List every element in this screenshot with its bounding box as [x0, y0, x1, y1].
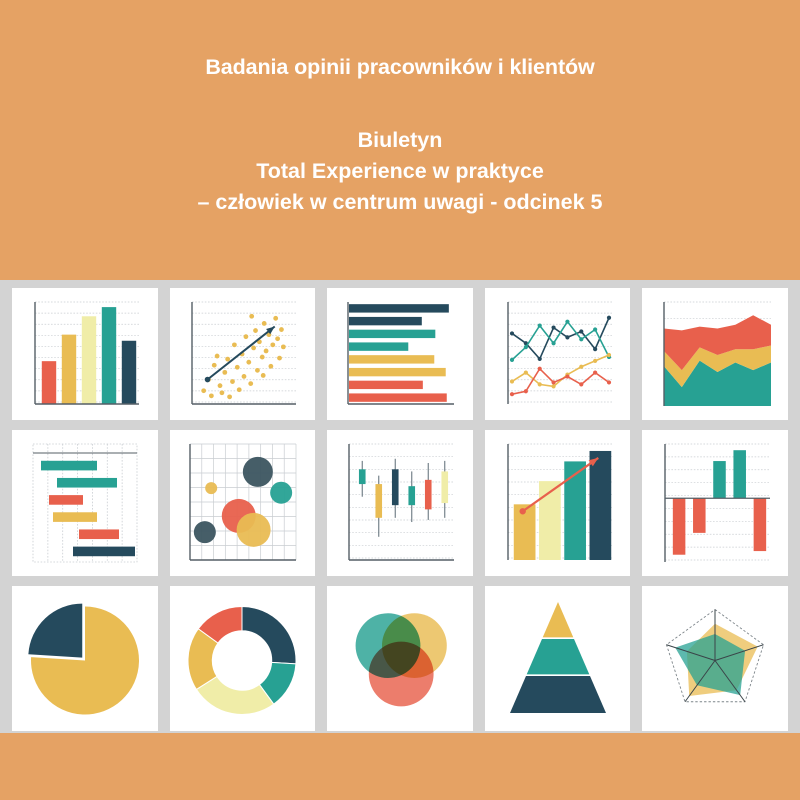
venn-diagram-chart — [340, 594, 460, 723]
candlestick-chart — [340, 438, 460, 568]
growth-bar-chart — [498, 438, 618, 568]
multi-line-chart — [498, 296, 618, 412]
chart-card-stacked-area-chart[interactable] — [642, 288, 788, 420]
chart-card-scatter-plot-chart[interactable] — [170, 288, 316, 420]
chart-card-gantt-chart[interactable] — [12, 430, 158, 576]
radar-chart — [655, 594, 775, 723]
poster-root: Badania opinii pracowników i klientów Bi… — [0, 0, 800, 800]
chart-card-venn-diagram-chart[interactable] — [327, 586, 473, 731]
scatter-plot-chart — [182, 296, 302, 412]
horizontal-bar-chart — [340, 296, 460, 412]
chart-card-horizontal-bar-chart[interactable] — [327, 288, 473, 420]
stacked-area-chart — [655, 296, 775, 412]
gantt-chart — [25, 438, 145, 568]
chart-card-growth-bar-chart[interactable] — [485, 430, 631, 576]
chart-card-bubble-chart[interactable] — [170, 430, 316, 576]
vertical-bar-chart — [25, 296, 145, 412]
subtitle-block: Biuletyn Total Experience w praktyce – c… — [197, 125, 602, 219]
page-title: Badania opinii pracowników i klientów — [205, 54, 594, 81]
chart-card-diverging-bar-chart[interactable] — [642, 430, 788, 576]
subtitle-line-1: Biuletyn — [197, 125, 602, 156]
chart-card-donut-chart[interactable] — [170, 586, 316, 731]
donut-chart — [182, 594, 302, 723]
diverging-bar-chart — [655, 438, 775, 568]
bubble-chart — [182, 438, 302, 568]
chart-card-pie-chart[interactable] — [12, 586, 158, 731]
subtitle-line-3: – człowiek w centrum uwagi - odcinek 5 — [197, 187, 602, 218]
chart-card-radar-chart[interactable] — [642, 586, 788, 731]
chart-gallery — [0, 280, 800, 733]
pyramid-chart — [498, 594, 618, 723]
chart-card-multi-line-chart[interactable] — [485, 288, 631, 420]
chart-card-vertical-bar-chart[interactable] — [12, 288, 158, 420]
chart-card-pyramid-chart[interactable] — [485, 586, 631, 731]
chart-card-candlestick-chart[interactable] — [327, 430, 473, 576]
subtitle-line-2: Total Experience w praktyce — [197, 156, 602, 187]
header-banner: Badania opinii pracowników i klientów Bi… — [0, 0, 800, 280]
pie-chart — [25, 594, 145, 723]
